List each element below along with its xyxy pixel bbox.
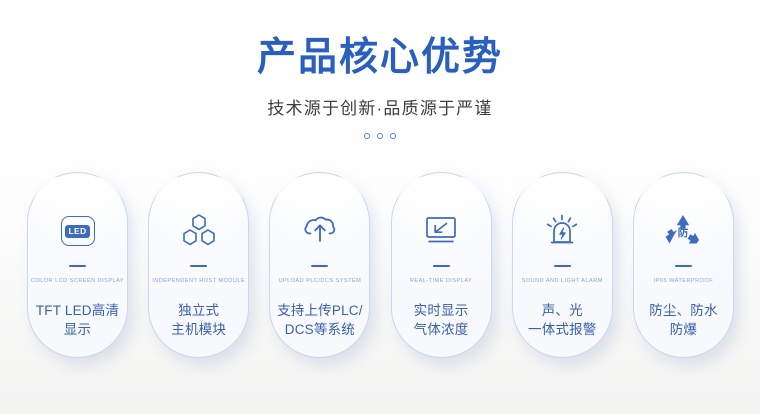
card-title-cn: 防尘、防水 防爆 bbox=[645, 301, 722, 340]
card-caption-en: IP65 WATERPROOF bbox=[654, 278, 713, 285]
dot-3 bbox=[390, 133, 396, 139]
card-caption-en: COLOR LCD SCREEN DISPLAY bbox=[31, 278, 124, 285]
card-title-cn: 实时显示 气体浓度 bbox=[410, 301, 473, 340]
card-divider bbox=[675, 265, 692, 267]
cloud-upload-icon bbox=[299, 203, 341, 259]
card-divider bbox=[69, 265, 86, 267]
dot-2 bbox=[377, 133, 383, 139]
card-divider bbox=[311, 265, 328, 267]
alarm-beacon-icon bbox=[541, 203, 583, 259]
card-title-cn: 独立式 主机模块 bbox=[167, 301, 230, 340]
dot-1 bbox=[364, 133, 370, 139]
card-title-cn: TFT LED高清 显示 bbox=[32, 301, 123, 340]
feature-card-ip65-waterproof[interactable]: 防 IP65 WATERPROOF 防尘、防水 防爆 bbox=[633, 172, 734, 358]
recycle-icon-label: 防 bbox=[678, 226, 689, 239]
monitor-arrow-icon bbox=[420, 203, 462, 259]
feature-card-led-display[interactable]: LED COLOR LCD SCREEN DISPLAY TFT LED高清 显… bbox=[27, 172, 128, 358]
led-badge-icon: LED bbox=[61, 203, 95, 259]
card-caption-en: SOUND AND LIGHT ALARM bbox=[522, 278, 603, 285]
feature-card-sound-light-alarm[interactable]: SOUND AND LIGHT ALARM 声、光 一体式报警 bbox=[512, 172, 613, 358]
card-title-cn: 声、光 一体式报警 bbox=[524, 301, 601, 340]
card-title-cn: 支持上传PLC/ DCS等系统 bbox=[273, 301, 367, 340]
page-header: 产品核心优势 技术源于创新·品质源于严谨 bbox=[0, 0, 760, 139]
card-caption-en: UPLOAD PLC/DCS SYSTEM bbox=[278, 278, 361, 285]
recycle-protection-icon: 防 bbox=[661, 203, 705, 259]
card-divider bbox=[190, 265, 207, 267]
feature-card-realtime-display[interactable]: REAL-TIME DISPLAY 实时显示 气体浓度 bbox=[391, 172, 492, 358]
card-divider bbox=[554, 265, 571, 267]
feature-card-independent-host-module[interactable]: INDEPENDENT HOST MODULE 独立式 主机模块 bbox=[148, 172, 249, 358]
hexagon-cluster-icon bbox=[178, 203, 220, 259]
card-caption-en: REAL-TIME DISPLAY bbox=[410, 278, 472, 285]
page-subtitle: 技术源于创新·品质源于严谨 bbox=[0, 94, 760, 119]
card-caption-en: INDEPENDENT HOST MODULE bbox=[152, 278, 245, 285]
page-title: 产品核心优势 bbox=[0, 36, 760, 81]
feature-card-row: LED COLOR LCD SCREEN DISPLAY TFT LED高清 显… bbox=[27, 172, 734, 358]
card-divider bbox=[433, 265, 450, 267]
feature-card-upload-plc-dcs[interactable]: UPLOAD PLC/DCS SYSTEM 支持上传PLC/ DCS等系统 bbox=[269, 172, 370, 358]
decorative-dots bbox=[0, 133, 760, 139]
led-badge-label: LED bbox=[65, 225, 90, 238]
